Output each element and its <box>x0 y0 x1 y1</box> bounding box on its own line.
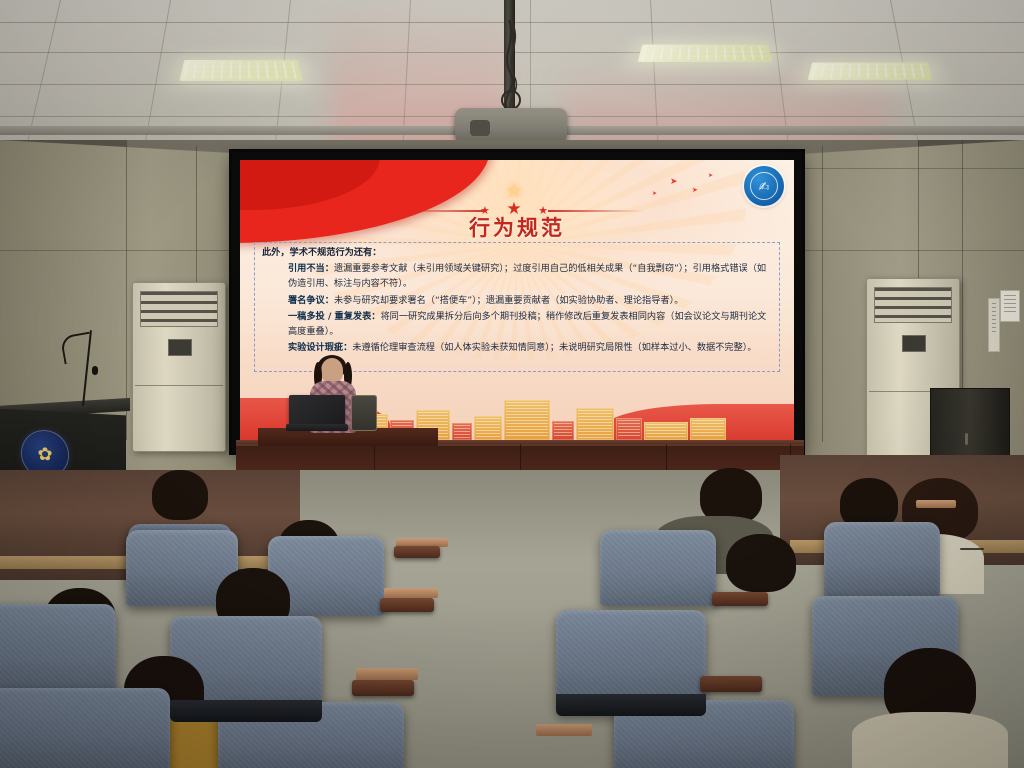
laptop-screen <box>289 395 345 426</box>
slide-lead-text: 此外，学术不规范行为还有： <box>262 246 774 261</box>
ceiling-light-panel-left <box>179 60 302 81</box>
writing-tablet-far-3 <box>916 500 956 508</box>
glasses-icon-2 <box>960 548 984 550</box>
armrest-near-1 <box>352 680 414 696</box>
slide-bullet-3-heading: 一稿多投 / 重复发表： <box>288 311 380 322</box>
seat-front-1 <box>0 688 170 768</box>
writing-tablet-near-1 <box>356 668 418 680</box>
microphone-head-icon <box>92 366 98 375</box>
floor-standing-ac-left <box>132 282 226 452</box>
bird-flock-icon-2: ➤ <box>692 186 698 194</box>
slide-bullet-1: 引用不当：遗漏重要参考文献（未引用领域关键研究）；过度引用自己的低相关成果（“自… <box>262 262 774 292</box>
bird-flock-icon-3: ➤ <box>708 172 713 179</box>
ac-vent-right <box>874 287 952 323</box>
slide-bullet-3: 一稿多投 / 重复发表：将同一研究成果拆分后向多个期刊投稿；稍作修改后重复发表相… <box>262 310 774 340</box>
slide-bullet-4-heading: 实验设计瑕疵： <box>288 342 352 353</box>
university-emblem-glyph: ✍ <box>750 172 778 200</box>
slide-bullet-2-text: 未参与研究却要求署名（“搭便车”）；遗漏重要贡献者（如实验协助者、理论指导者）。 <box>334 295 683 306</box>
audience-head-far-1 <box>152 470 208 520</box>
bird-flock-icon-4: ➤ <box>652 190 657 197</box>
laptop-keyboard <box>286 424 348 431</box>
armrest-far-1 <box>394 546 440 558</box>
audience-shoulders-near-2 <box>852 712 1008 768</box>
slide-bullet-2: 署名争议：未参与研究却要求署名（“搭便车”）；遗漏重要贡献者（如实验协助者、理论… <box>262 294 774 309</box>
presenter-chair <box>351 395 377 431</box>
ac-vent-left <box>140 291 218 327</box>
seat-mid-3 <box>600 530 716 606</box>
wall-notice-right <box>1000 290 1020 322</box>
seat-near-1 <box>0 604 116 700</box>
ac-control-panel-left <box>168 339 192 356</box>
slide-bullet-4: 实验设计瑕疵：未遵循伦理审查流程（如人体实验未获知情同意）；未说明研究局限性（如… <box>262 341 774 356</box>
slide-bullet-4-text: 未遵循伦理审查流程（如人体实验未获知情同意）；未说明研究局限性（如样本过小、数据… <box>352 342 756 353</box>
lecture-hall-photo: ★ ➤ ➤ ➤ ➤ ✍ ★ ★ ★ 行为规范 此外，学术不规范行为还有： 引用不… <box>0 0 1024 768</box>
audience-head-mid-2 <box>726 534 796 592</box>
seat-mid-4 <box>824 522 940 598</box>
projector-lens <box>470 120 490 136</box>
armrest-near-2 <box>700 676 762 692</box>
wall-notice-right-2 <box>988 298 1000 352</box>
slide-bullet-1-heading: 引用不当： <box>288 263 334 274</box>
armrest-mid-2 <box>712 592 768 606</box>
lectern-emblem-glyph: ✿ <box>37 445 52 464</box>
slide-title: 行为规范 <box>240 212 794 242</box>
writing-tablet-near-2 <box>536 724 592 736</box>
armrest-mid-1 <box>380 598 434 612</box>
ac-control-panel-right <box>902 335 926 352</box>
ceiling-light-panel-right <box>808 63 933 80</box>
slide-bullet-2-heading: 署名争议： <box>288 295 334 306</box>
slide-bullet-1-text: 遗漏重要参考文献（未引用领域关键研究）；过度引用自己的低相关成果（“自我剽窃”）… <box>288 263 766 289</box>
writing-tablet-mid-1 <box>384 588 438 598</box>
slide-body: 此外，学术不规范行为还有： 引用不当：遗漏重要参考文献（未引用领域关键研究）；过… <box>262 246 774 356</box>
bird-flock-icon-1: ➤ <box>670 176 678 187</box>
ceiling-light-panel-center <box>637 45 772 62</box>
